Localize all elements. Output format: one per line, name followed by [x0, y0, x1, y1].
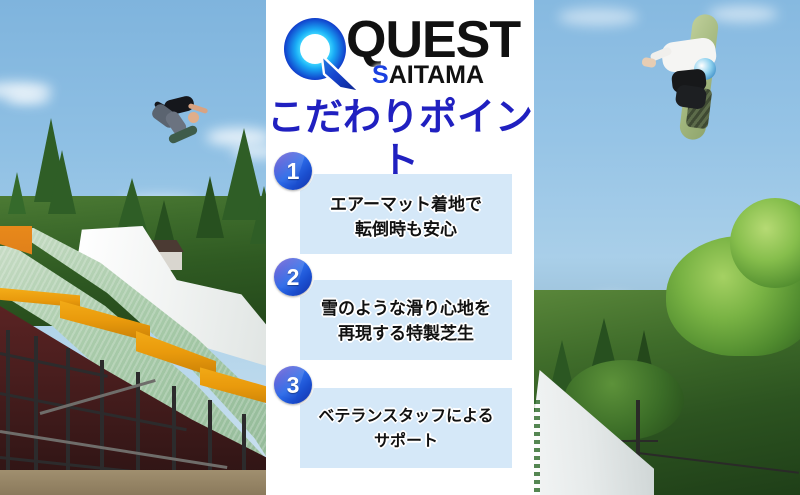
feature-badge-number-1: 1 — [274, 152, 312, 190]
photo-left-snowboarder-ramp — [0, 0, 266, 495]
cloud-shape — [558, 8, 638, 26]
quest-saitama-logo: QUEST SAITAMA — [266, 8, 534, 92]
feature-text-3: ベテランスタッフによる サポート — [300, 404, 512, 454]
feature-item-3: 3 ベテランスタッフによる サポート — [266, 366, 534, 476]
conifer-tree — [250, 186, 266, 244]
logo-subtitle-rest: AITAMA — [389, 61, 484, 89]
conifer-tree — [196, 176, 224, 238]
scaffold-bar — [136, 372, 140, 480]
feature-line-3b: サポート — [300, 429, 512, 454]
scaffold-bar — [6, 330, 10, 470]
feature-badge-3: 3 — [274, 366, 312, 404]
feature-item-2: 2 雪のような滑り心地を 再現する特製芝生 — [266, 258, 534, 366]
feature-item-1: 1 エアーマット着地で 転倒時も安心 — [266, 152, 534, 258]
conifer-tree — [8, 172, 26, 214]
tarp-green-stripe — [534, 400, 540, 495]
logo-subtitle: SAITAMA — [372, 63, 484, 88]
feature-line-2b: 再現する特製芝生 — [300, 321, 512, 346]
feature-badge-1: 1 — [274, 152, 312, 190]
feature-line-2a: 雪のような滑り心地を — [300, 296, 512, 321]
feature-line-1a: エアーマット着地で — [300, 192, 512, 217]
scaffold-bar — [172, 386, 176, 482]
scaffold-bar — [100, 360, 104, 478]
ground-strip — [0, 470, 266, 495]
photo-right-snowboarder-air — [534, 0, 800, 495]
cloud-shape — [6, 92, 50, 104]
feature-line-3a: ベテランスタッフによる — [300, 404, 512, 429]
feature-badge-number-3: 3 — [274, 366, 312, 404]
feature-badge-number-2: 2 — [274, 258, 312, 296]
conifer-tree — [48, 150, 76, 214]
scaffold-bar — [34, 336, 38, 474]
rider-figure-left — [148, 92, 212, 148]
feature-line-1b: 転倒時も安心 — [300, 217, 512, 242]
q-logomark-icon — [284, 18, 346, 80]
info-panel: QUEST SAITAMA こだわりポイント 1 エアーマット着地で 転倒時も安… — [266, 0, 534, 495]
feature-badge-2: 2 — [274, 258, 312, 296]
feature-text-2: 雪のような滑り心地を 再現する特製芝生 — [300, 296, 512, 346]
logo-wordmark: QUEST — [346, 14, 520, 66]
feature-text-1: エアーマット着地で 転倒時も安心 — [300, 192, 512, 242]
rider-figure-right — [658, 14, 738, 144]
promo-banner: QUEST SAITAMA こだわりポイント 1 エアーマット着地で 転倒時も安… — [0, 0, 800, 495]
logo-subtitle-initial: S — [372, 61, 389, 89]
